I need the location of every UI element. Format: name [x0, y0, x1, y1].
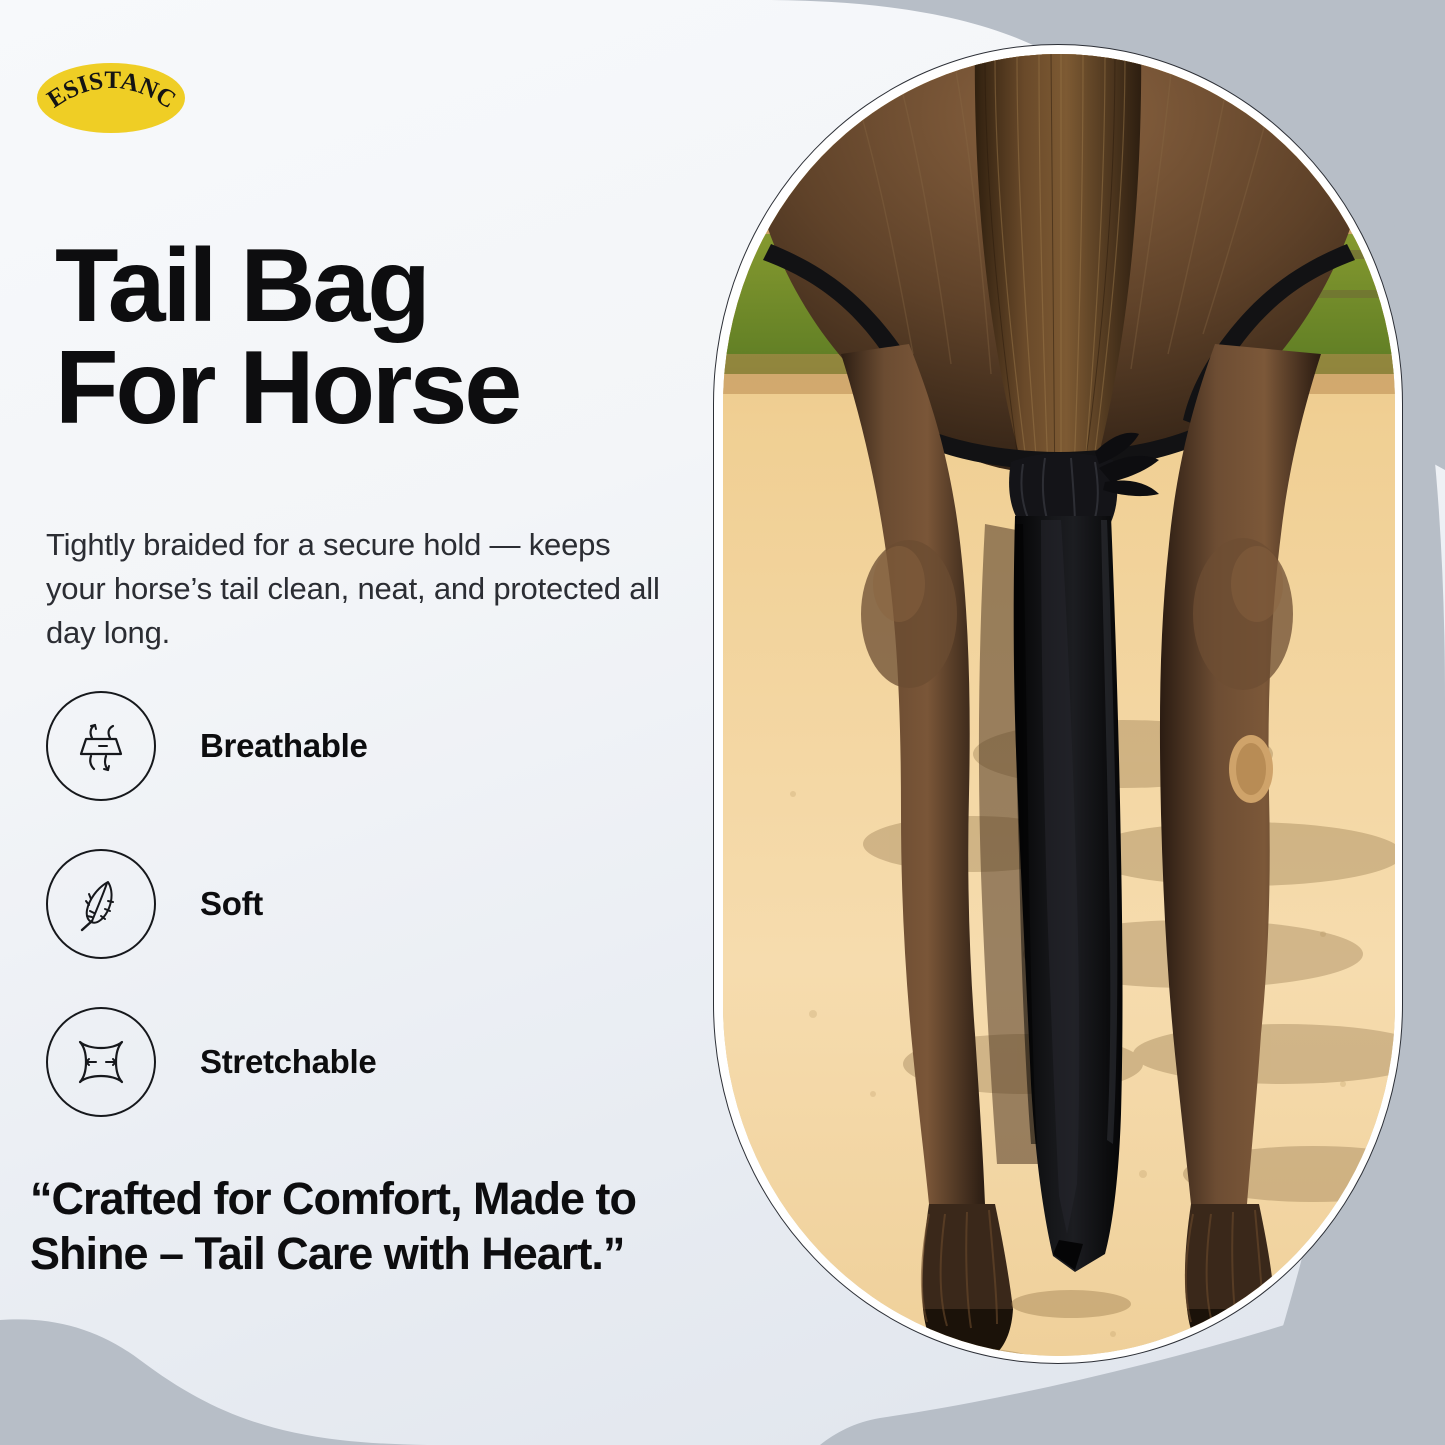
infographic-canvas: RESISTANCE Tail Bag For Horse Tightly br…	[0, 0, 1445, 1445]
product-description: Tightly braided for a secure hold — keep…	[46, 523, 676, 655]
title-line-2: For Horse	[55, 338, 695, 440]
brand-logo[interactable]: RESISTANCE	[36, 60, 186, 136]
tagline-quote: “Crafted for Comfort, Made to Shine – Ta…	[30, 1172, 730, 1282]
quote-line-1: “Crafted for Comfort, Made to	[30, 1173, 636, 1224]
feature-label: Soft	[200, 885, 263, 923]
title-line-1: Tail Bag	[55, 228, 428, 344]
feature-list: Breathable Soft	[46, 686, 666, 1160]
feature-label: Stretchable	[200, 1043, 376, 1081]
quote-line-2: Shine – Tail Care with Heart.”	[30, 1228, 624, 1279]
horse-tail-bag-photo	[723, 54, 1395, 1356]
product-photo	[723, 54, 1395, 1356]
feature-item-soft: Soft	[46, 844, 666, 964]
feature-label: Breathable	[200, 727, 368, 765]
page-title: Tail Bag For Horse	[55, 236, 695, 440]
feature-item-stretchable: Stretchable	[46, 1002, 666, 1122]
breathable-icon	[46, 691, 156, 801]
product-image-frame	[713, 44, 1403, 1364]
feature-item-breathable: Breathable	[46, 686, 666, 806]
feather-icon	[46, 849, 156, 959]
stretchable-icon	[46, 1007, 156, 1117]
resistance-logo-icon: RESISTANCE	[36, 60, 186, 136]
left-content-column: RESISTANCE Tail Bag For Horse Tightly br…	[0, 0, 700, 1445]
